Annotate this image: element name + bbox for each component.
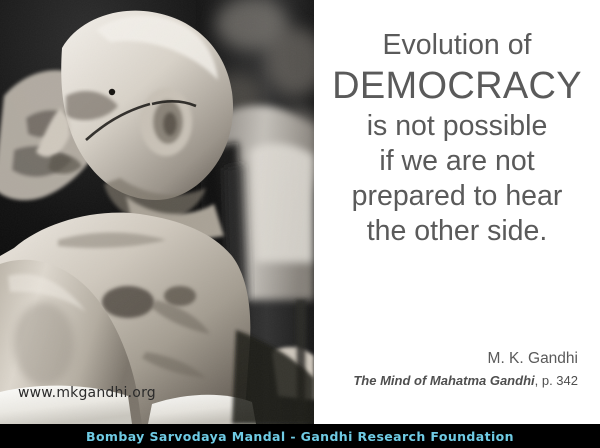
quote-text: Evolution of DEMOCRACY is not possible i… bbox=[314, 28, 600, 249]
quote-line-2-emphasis: DEMOCRACY bbox=[314, 63, 600, 109]
footer-banner: Bombay Sarvodaya Mandal - Gandhi Researc… bbox=[0, 424, 600, 448]
quote-line-4: if we are not bbox=[314, 144, 600, 179]
quote-source-page: , p. 342 bbox=[535, 373, 578, 388]
attribution: M. K. Gandhi The Mind of Mahatma Gandhi,… bbox=[318, 348, 578, 392]
quote-source: The Mind of Mahatma Gandhi, p. 342 bbox=[318, 370, 578, 392]
quote-source-title: The Mind of Mahatma Gandhi bbox=[353, 373, 534, 388]
footer-banner-text: Bombay Sarvodaya Mandal - Gandhi Researc… bbox=[86, 429, 514, 444]
quote-author: M. K. Gandhi bbox=[318, 348, 578, 370]
portrait-illustration bbox=[0, 0, 314, 424]
gandhi-portrait-photo: www.mkgandhi.org bbox=[0, 0, 314, 424]
quote-line-1: Evolution of bbox=[314, 28, 600, 63]
quote-line-3: is not possible bbox=[314, 109, 600, 144]
photo-watermark-url: www.mkgandhi.org bbox=[18, 385, 156, 401]
quote-line-6: the other side. bbox=[314, 214, 600, 249]
quote-panel: Evolution of DEMOCRACY is not possible i… bbox=[314, 0, 600, 424]
quote-poster: www.mkgandhi.org Evolution of DEMOCRACY … bbox=[0, 0, 600, 448]
quote-line-5: prepared to hear bbox=[314, 179, 600, 214]
